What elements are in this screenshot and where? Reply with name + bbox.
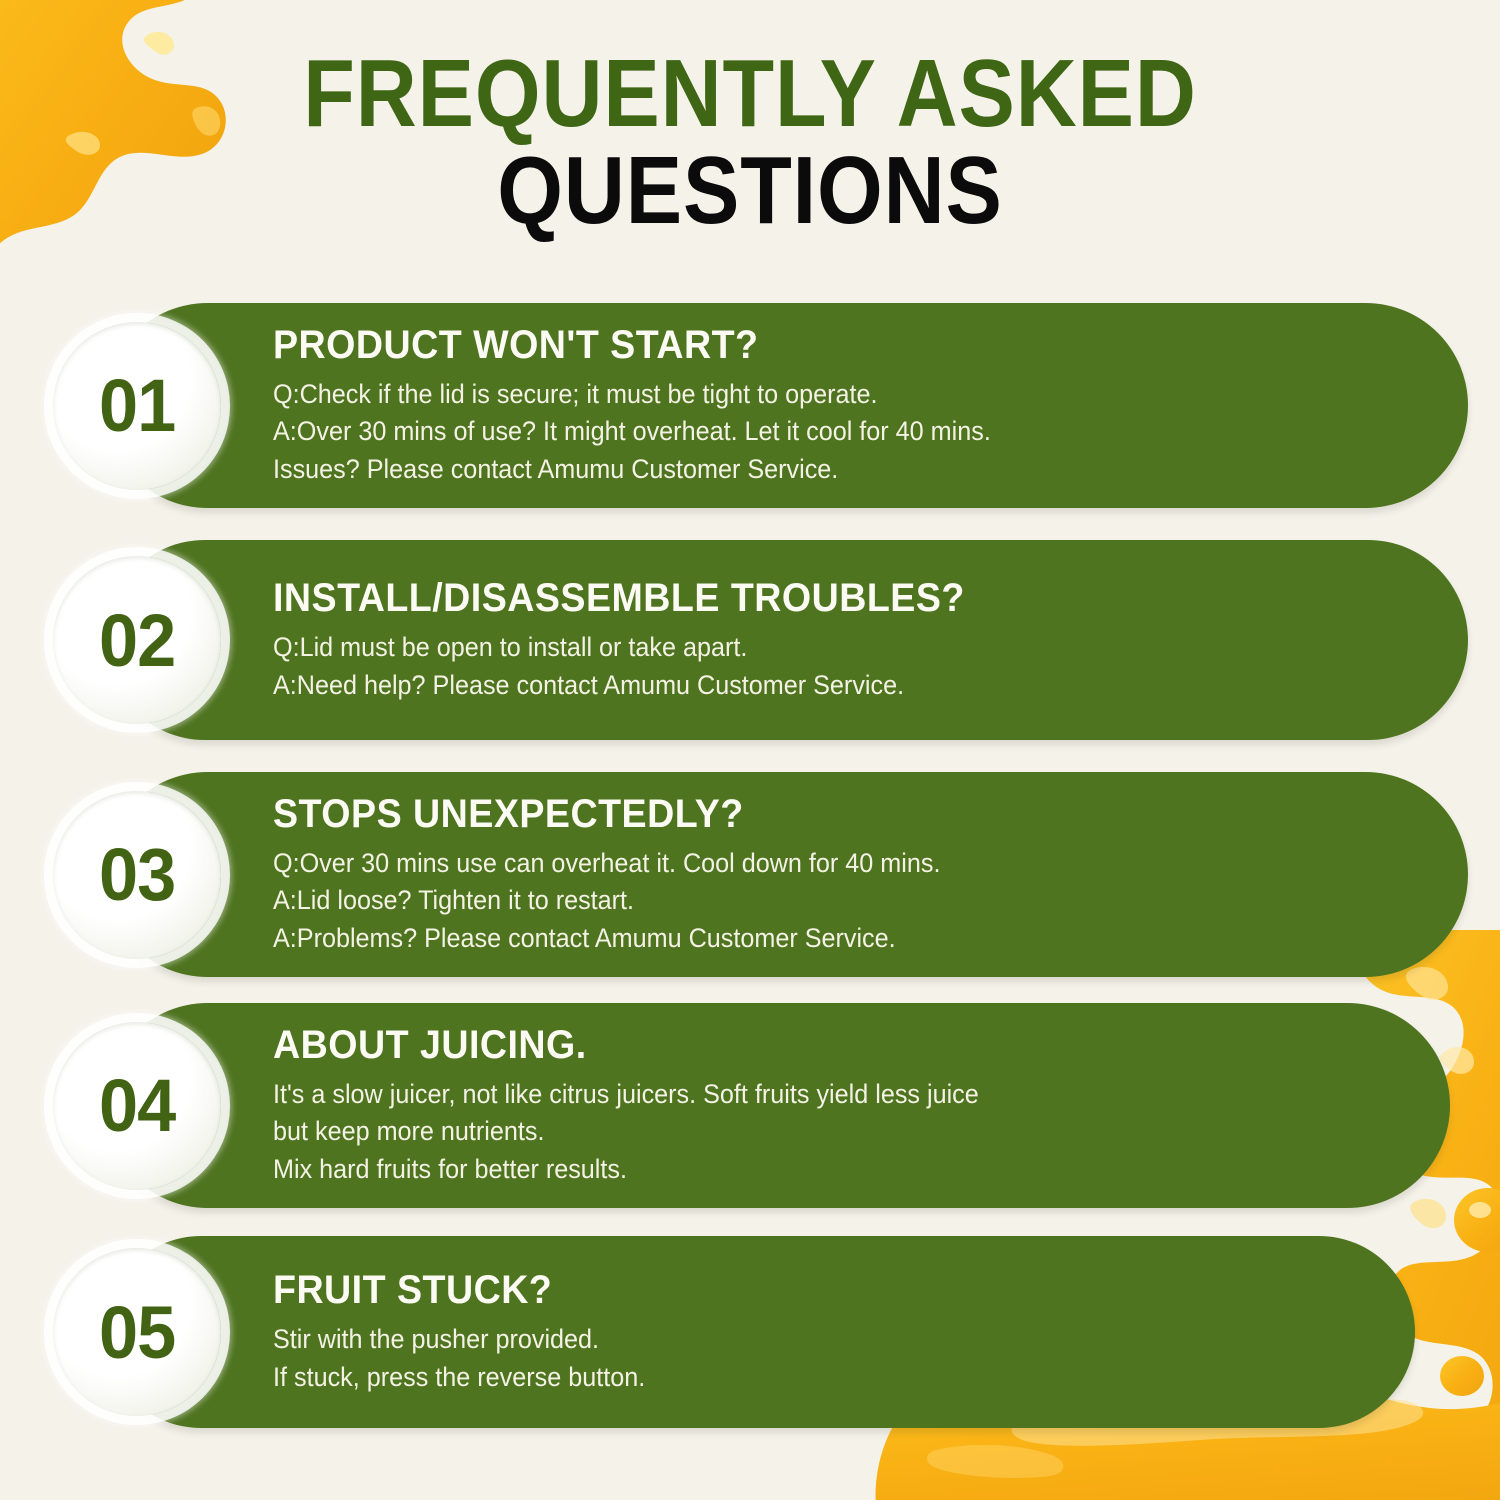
faq-title-2: INSTALL/DISASSEMBLE TROUBLES? [273, 576, 1359, 621]
faq-answer-line: A:Need help? Please contact Amumu Custom… [273, 667, 1370, 705]
faq-number-badge-1: 01 [53, 322, 221, 490]
faq-list: 01 PRODUCT WON'T START? Q:Check if the l… [0, 0, 1500, 1500]
faq-answer-line: Issues? Please contact Amumu Customer Se… [273, 451, 1370, 489]
faq-poster: FREQUENTLY ASKED QUESTIONS 01 PRODUCT WO… [0, 0, 1500, 1500]
faq-title-4: ABOUT JUICING. [273, 1023, 1342, 1068]
faq-answer-4: It's a slow juicer, not like citrus juic… [273, 1076, 1353, 1189]
faq-answer-line: A:Lid loose? Tighten it to restart. [273, 882, 1370, 920]
faq-number-5: 05 [99, 1290, 175, 1375]
faq-body-5: FRUIT STUCK? Stir with the pusher provid… [273, 1236, 1375, 1428]
faq-card-3[interactable]: 03 STOPS UNEXPECTEDLY? Q:Over 30 mins us… [105, 772, 1468, 977]
faq-number-badge-4: 04 [53, 1022, 221, 1190]
faq-number-3: 03 [99, 832, 175, 917]
faq-number-1: 01 [99, 363, 175, 448]
faq-number-badge-3: 03 [53, 791, 221, 959]
faq-answer-line: If stuck, press the reverse button. [273, 1359, 1320, 1397]
faq-number-4: 04 [99, 1063, 175, 1148]
faq-card-5[interactable]: 05 FRUIT STUCK? Stir with the pusher pro… [105, 1236, 1415, 1428]
faq-card-4[interactable]: 04 ABOUT JUICING. It's a slow juicer, no… [105, 1003, 1450, 1208]
faq-answer-2: Q:Lid must be open to install or take ap… [273, 629, 1370, 704]
faq-body-3: STOPS UNEXPECTEDLY? Q:Over 30 mins use c… [273, 772, 1428, 977]
faq-card-1[interactable]: 01 PRODUCT WON'T START? Q:Check if the l… [105, 303, 1468, 508]
faq-title-5: FRUIT STUCK? [273, 1268, 1309, 1313]
faq-title-1: PRODUCT WON'T START? [273, 323, 1359, 368]
faq-number-badge-5: 05 [53, 1248, 221, 1416]
faq-answer-line: Q:Check if the lid is secure; it must be… [273, 376, 1370, 414]
faq-body-1: PRODUCT WON'T START? Q:Check if the lid … [273, 303, 1428, 508]
faq-body-2: INSTALL/DISASSEMBLE TROUBLES? Q:Lid must… [273, 540, 1428, 740]
faq-answer-line: Q:Over 30 mins use can overheat it. Cool… [273, 845, 1370, 883]
faq-answer-3: Q:Over 30 mins use can overheat it. Cool… [273, 845, 1370, 958]
faq-number-2: 02 [99, 598, 175, 683]
faq-answer-line: Q:Lid must be open to install or take ap… [273, 629, 1370, 667]
faq-answer-line: A:Problems? Please contact Amumu Custome… [273, 920, 1370, 958]
faq-answer-1: Q:Check if the lid is secure; it must be… [273, 376, 1370, 489]
faq-answer-line: but keep more nutrients. [273, 1113, 1353, 1151]
faq-body-4: ABOUT JUICING. It's a slow juicer, not l… [273, 1003, 1410, 1208]
faq-answer-line: Mix hard fruits for better results. [273, 1151, 1353, 1189]
faq-title-3: STOPS UNEXPECTEDLY? [273, 792, 1359, 837]
faq-answer-line: A:Over 30 mins of use? It might overheat… [273, 413, 1370, 451]
faq-number-badge-2: 02 [53, 556, 221, 724]
faq-card-2[interactable]: 02 INSTALL/DISASSEMBLE TROUBLES? Q:Lid m… [105, 540, 1468, 740]
faq-answer-line: It's a slow juicer, not like citrus juic… [273, 1076, 1353, 1114]
faq-answer-line: Stir with the pusher provided. [273, 1321, 1320, 1359]
faq-answer-5: Stir with the pusher provided. If stuck,… [273, 1321, 1320, 1396]
